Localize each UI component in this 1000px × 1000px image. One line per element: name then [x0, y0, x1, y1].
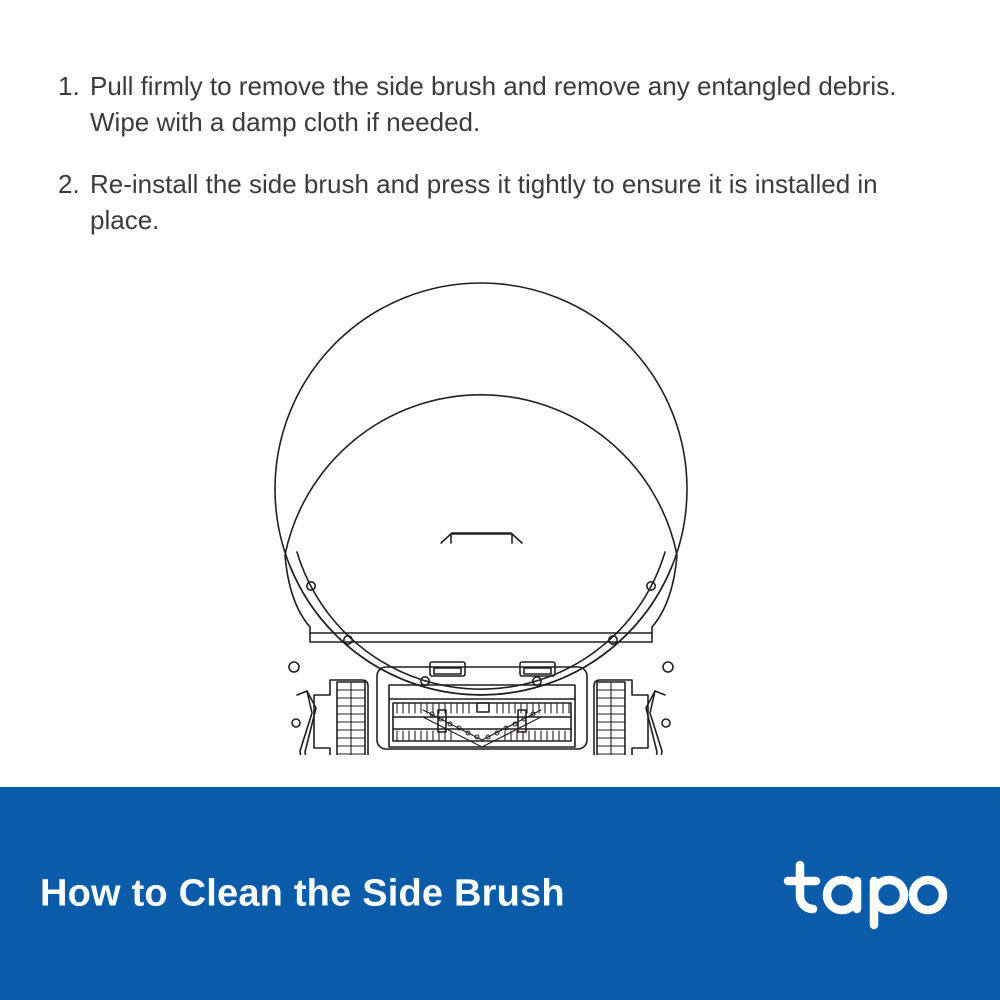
bottom-banner: How to Clean the Side Brush	[0, 787, 1000, 1000]
list-item: 2. Re-install the side brush and press i…	[58, 166, 948, 238]
sensor-hole	[292, 719, 300, 727]
step-text: Pull firmly to remove the side brush and…	[90, 68, 920, 140]
page-title: How to Clean the Side Brush	[40, 872, 565, 915]
step-text: Re-install the side brush and press it t…	[90, 166, 920, 238]
robot-vacuum-illustration	[0, 255, 1000, 755]
rim-band-outer	[290, 566, 672, 695]
lid-handle-inner	[451, 534, 512, 543]
left-wheel-treads	[337, 682, 365, 755]
instruction-list: 1. Pull firmly to remove the side brush …	[58, 68, 948, 264]
brush-latch-tab-inner	[524, 668, 551, 674]
screw-hole	[344, 636, 352, 644]
sensor-hole	[662, 719, 670, 727]
right-wheel-treads	[597, 682, 625, 755]
sensor-hole	[289, 662, 299, 672]
step-number: 2.	[58, 166, 90, 202]
step-number: 1.	[58, 68, 90, 104]
tapo-logo-icon	[780, 855, 958, 933]
right-wheel-housing	[594, 680, 648, 755]
brush-latch-tab-inner	[434, 668, 461, 674]
sensor-hole	[663, 662, 673, 672]
main-brush-roller-body	[393, 703, 571, 741]
brush-bristle-row	[397, 703, 469, 713]
rim-band-inner	[297, 552, 665, 689]
left-wheel-housing	[314, 680, 368, 755]
list-item: 1. Pull firmly to remove the side brush …	[58, 68, 948, 140]
dust-bin-lid	[285, 395, 677, 642]
tapo-logo	[780, 855, 958, 933]
brush-center-mark	[477, 703, 489, 712]
page-root: 1. Pull firmly to remove the side brush …	[0, 0, 1000, 1000]
